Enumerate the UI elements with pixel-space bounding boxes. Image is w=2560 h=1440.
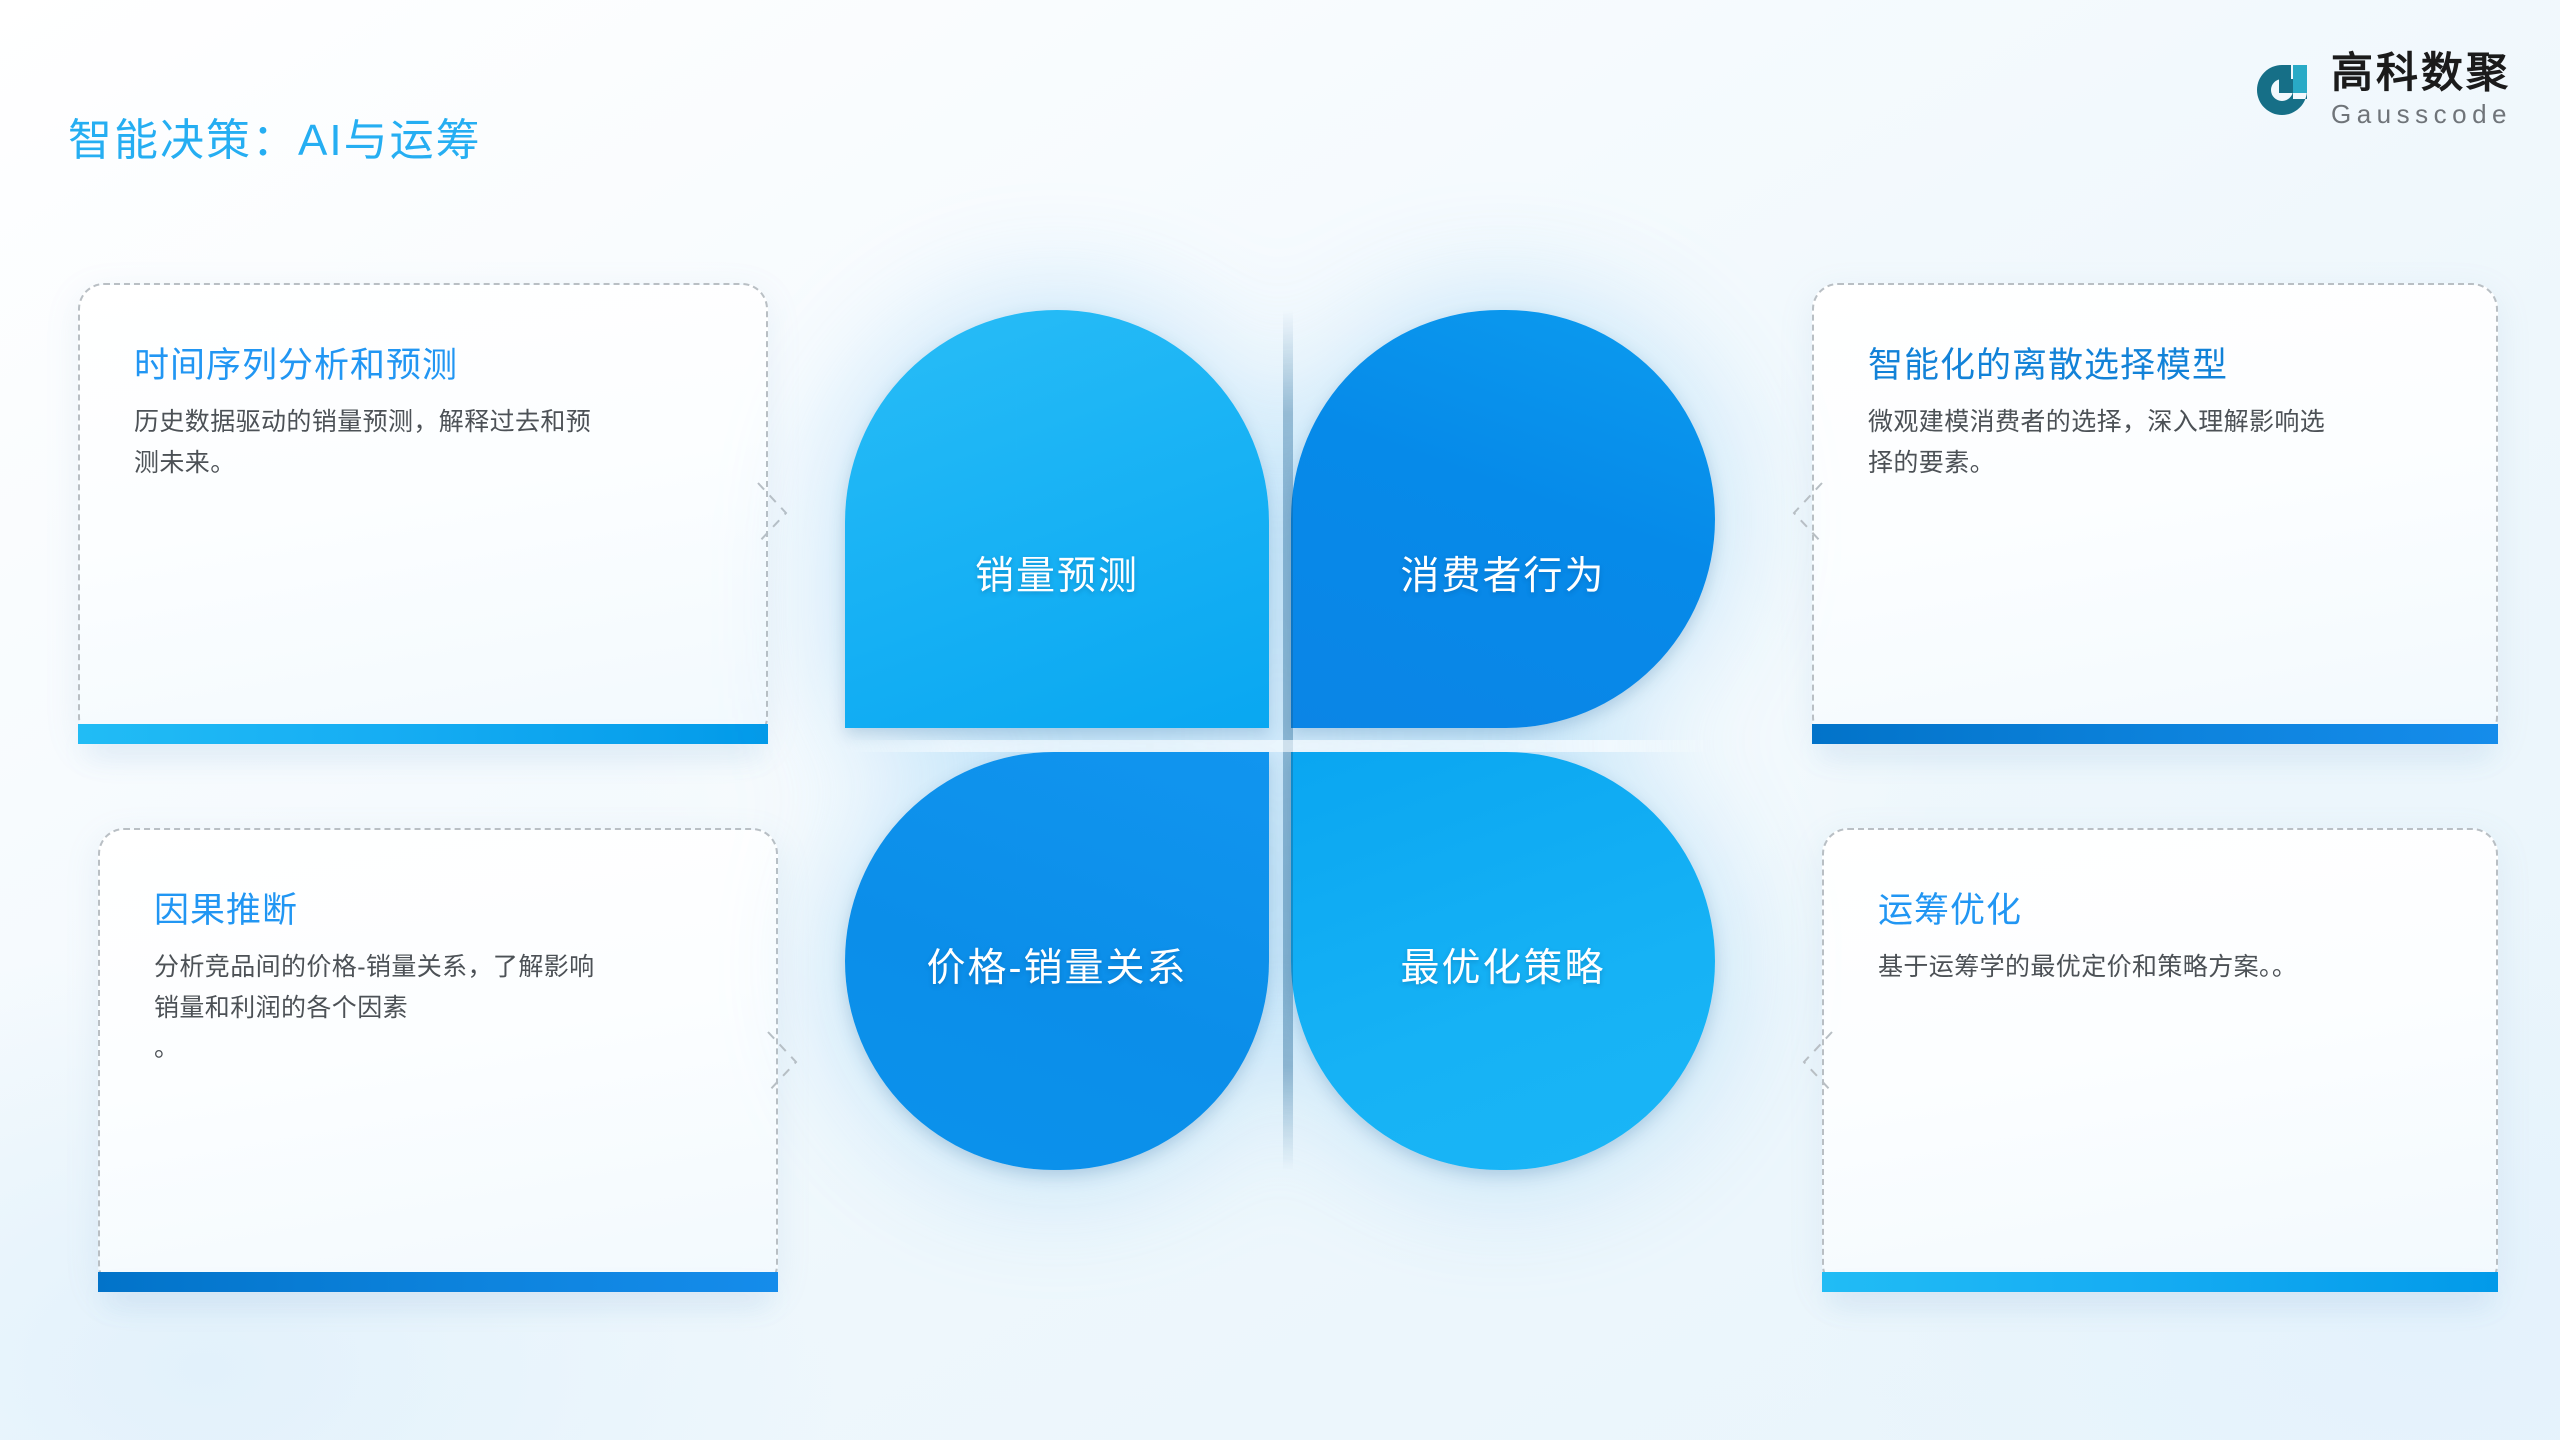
card-time-series[interactable]: 时间序列分析和预测 历史数据驱动的销量预测，解释过去和预 测未来。 <box>78 283 768 743</box>
logo-text-cn: 高科数聚 <box>2331 52 2512 94</box>
logo-text-en: Gausscode <box>2331 101 2512 127</box>
gausscode-logo-icon <box>2251 59 2313 121</box>
petal-label: 最优化策略 <box>1291 937 1715 993</box>
card-description: 历史数据驱动的销量预测，解释过去和预 测未来。 <box>134 402 712 483</box>
card-description: 分析竞品间的价格-销量关系，了解影响 销量和利润的各个因素 。 <box>154 947 722 1069</box>
petal-label: 销量预测 <box>845 545 1269 601</box>
connector-arrow-right-icon <box>766 1030 822 1094</box>
card-accent-bar <box>1822 1272 2498 1292</box>
card-title: 时间序列分析和预测 <box>134 337 712 388</box>
page-title: 智能决策：AI与运筹 <box>68 104 482 168</box>
petal-optimization-strategy[interactable]: 最优化策略 <box>1291 752 1715 1170</box>
card-title: 智能化的离散选择模型 <box>1868 337 2442 388</box>
card-operations-optimization[interactable]: 运筹优化 基于运筹学的最优定价和策略方案。。 <box>1822 828 2498 1291</box>
card-causal-inference[interactable]: 因果推断 分析竞品间的价格-销量关系，了解影响 销量和利润的各个因素 。 <box>98 828 778 1291</box>
petal-sales-forecast[interactable]: 销量预测 <box>845 310 1269 728</box>
card-title: 运筹优化 <box>1878 882 2442 933</box>
card-title: 因果推断 <box>154 882 722 933</box>
card-accent-bar <box>1812 724 2498 744</box>
petal-price-volume-relationship[interactable]: 价格-销量关系 <box>845 752 1269 1170</box>
flower-horizontal-seam <box>845 740 1715 752</box>
petal-label: 价格-销量关系 <box>845 937 1269 993</box>
card-description: 微观建模消费者的选择，深入理解影响选 择的要素。 <box>1868 402 2442 483</box>
card-accent-bar <box>78 724 768 744</box>
card-accent-bar <box>98 1272 778 1292</box>
connector-arrow-right-icon <box>756 481 812 545</box>
card-discrete-choice[interactable]: 智能化的离散选择模型 微观建模消费者的选择，深入理解影响选 择的要素。 <box>1812 283 2498 743</box>
petal-consumer-behavior[interactable]: 消费者行为 <box>1291 310 1715 728</box>
connector-arrow-left-icon <box>1778 1030 1834 1094</box>
petal-label: 消费者行为 <box>1291 545 1715 601</box>
flower-diagram: 销量预测 消费者行为 价格-销量关系 最优化策略 <box>845 310 1715 1170</box>
card-description: 基于运筹学的最优定价和策略方案。。 <box>1878 947 2442 988</box>
connector-arrow-left-icon <box>1768 481 1824 545</box>
brand-logo: 高科数聚 Gausscode <box>2251 52 2512 127</box>
